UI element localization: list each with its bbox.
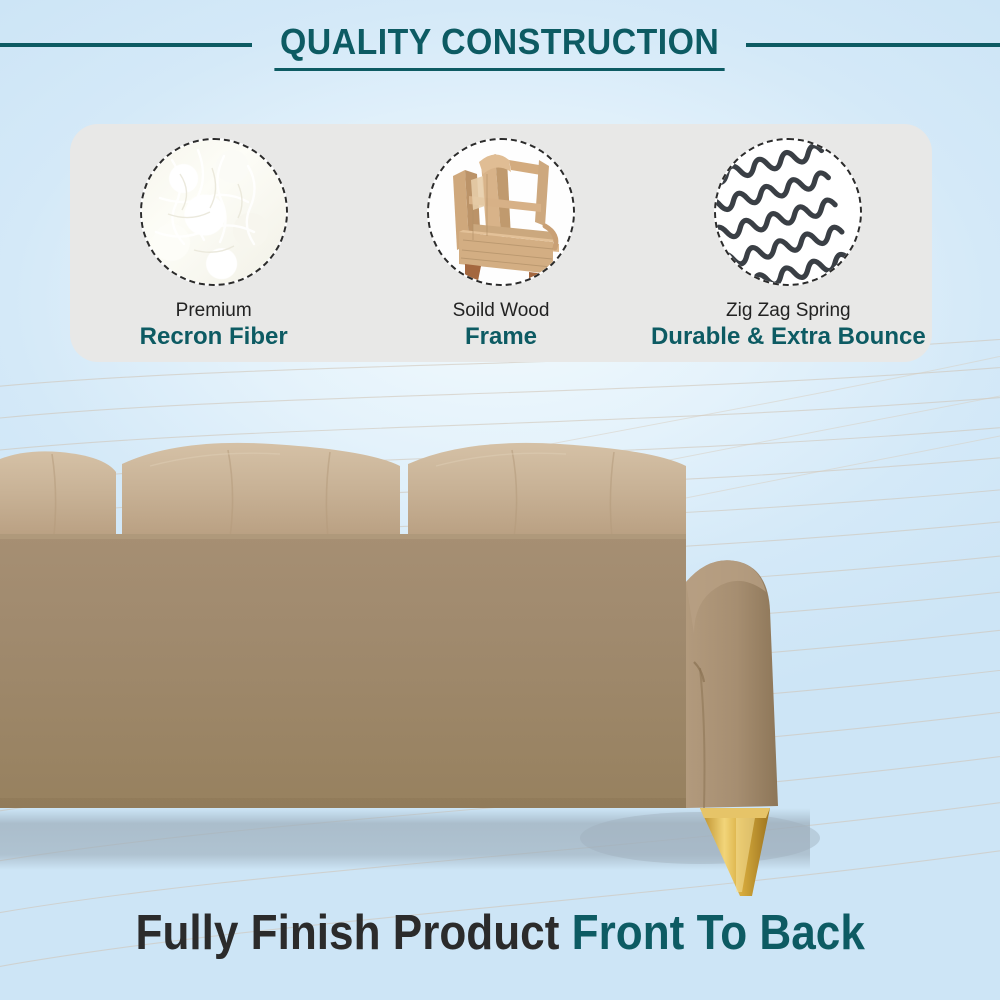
feature-wooden-frame: Soild Wood Frame [357,124,644,351]
feature-title: Frame [465,323,537,351]
feature-recron-fiber: Premium Recron Fiber [70,124,357,351]
sofa-right-arm [686,534,778,808]
page-title: QUALITY CONSTRUCTION [275,22,726,71]
caption-teal-text: Front To Back [571,906,864,960]
sofa-back-panel [0,534,686,808]
features-row: Premium Recron Fiber [70,124,932,362]
sofa-back-cushions [0,443,686,544]
feature-label: Premium [176,300,252,322]
bottom-caption: Fully Finish Product Front To Back [0,905,1000,961]
feature-title: Recron Fiber [140,323,288,351]
feature-label: Soild Wood [453,300,550,322]
header: QUALITY CONSTRUCTION [0,0,1000,90]
infographic-canvas: QUALITY CONSTRUCTION [0,0,1000,1000]
recron-fiber-icon [140,138,288,286]
feature-zig-zag-spring: Zig Zag Spring Durable & Extra Bounce [645,124,932,351]
zig-zag-spring-icon [714,138,862,286]
caption-dark-text: Fully Finish Product [135,906,559,960]
wooden-frame-icon [427,138,575,286]
feature-label: Zig Zag Spring [726,300,851,322]
feature-title: Durable & Extra Bounce [651,323,926,351]
sofa-product-image [0,430,1000,900]
